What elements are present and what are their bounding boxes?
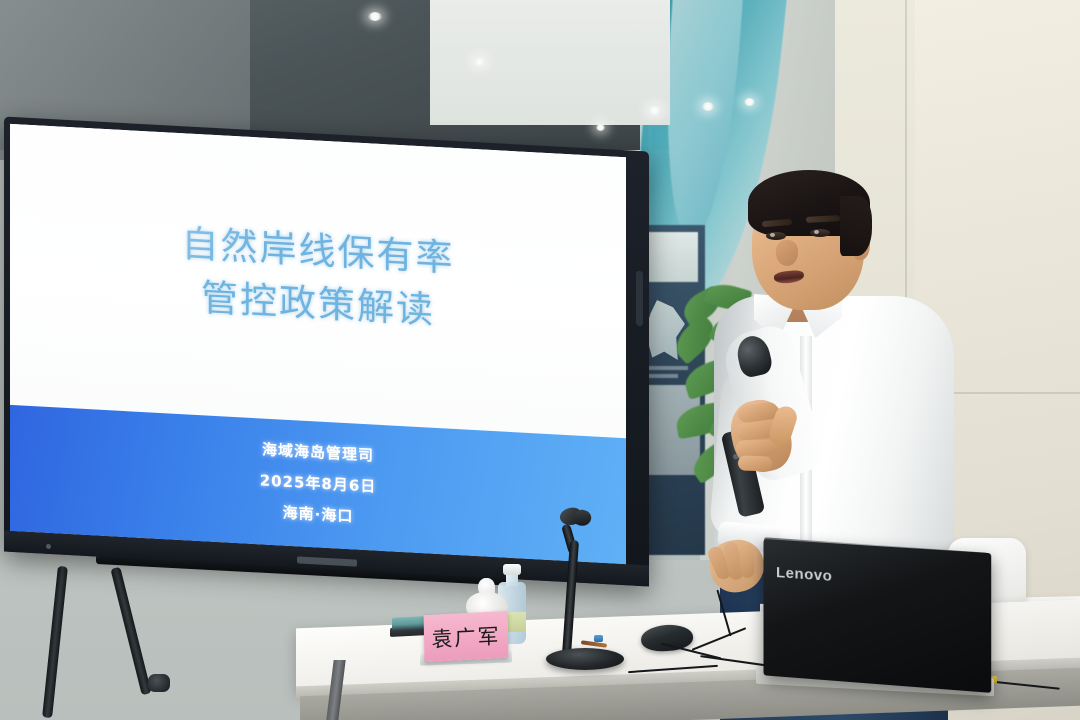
eye-highlight <box>770 233 775 237</box>
water-bottle-cap <box>503 564 521 575</box>
presentation-slide: 自然岸线保有率 管控政策解读 海域海岛管理司 2025年8月6日 海南·海口 <box>10 124 626 564</box>
tv-stand-caster <box>148 674 170 692</box>
left-hand-finger <box>736 439 777 456</box>
display-brand-badge <box>297 556 357 566</box>
left-hand-finger <box>738 455 773 471</box>
ceiling-downlight <box>596 124 605 131</box>
name-plate-text: 袁广军 <box>431 620 501 654</box>
eye-highlight <box>814 230 819 234</box>
photo-scene: 自然岸线保有率 管控政策解读 海域海岛管理司 2025年8月6日 海南·海口 <box>0 0 1080 720</box>
ceiling-downlight <box>744 98 755 106</box>
right-hand-finger <box>739 544 754 578</box>
speaker-eye-right <box>810 229 830 237</box>
display-indicator-led <box>46 544 51 549</box>
speaker-hair-side <box>840 196 872 256</box>
ceiling-downlight <box>474 58 485 66</box>
speaker-eye-left <box>766 232 786 240</box>
presentation-display[interactable]: 自然岸线保有率 管控政策解读 海域海岛管理司 2025年8月6日 海南·海口 <box>4 117 649 587</box>
ceiling-downlight <box>702 102 714 111</box>
ceiling-downlight <box>368 12 382 21</box>
ceiling-downlight <box>648 106 661 115</box>
gooseneck-mic-base[interactable] <box>546 648 624 670</box>
laptop-lid[interactable] <box>763 539 991 693</box>
display-panel: 自然岸线保有率 管控政策解读 海域海岛管理司 2025年8月6日 海南·海口 <box>10 124 626 564</box>
name-plate: 袁广军 <box>424 611 509 662</box>
speaker-nose <box>776 240 798 266</box>
display-side-port <box>636 271 643 326</box>
ceiling-bright-panel <box>430 0 670 125</box>
usb-adapter <box>594 635 603 642</box>
